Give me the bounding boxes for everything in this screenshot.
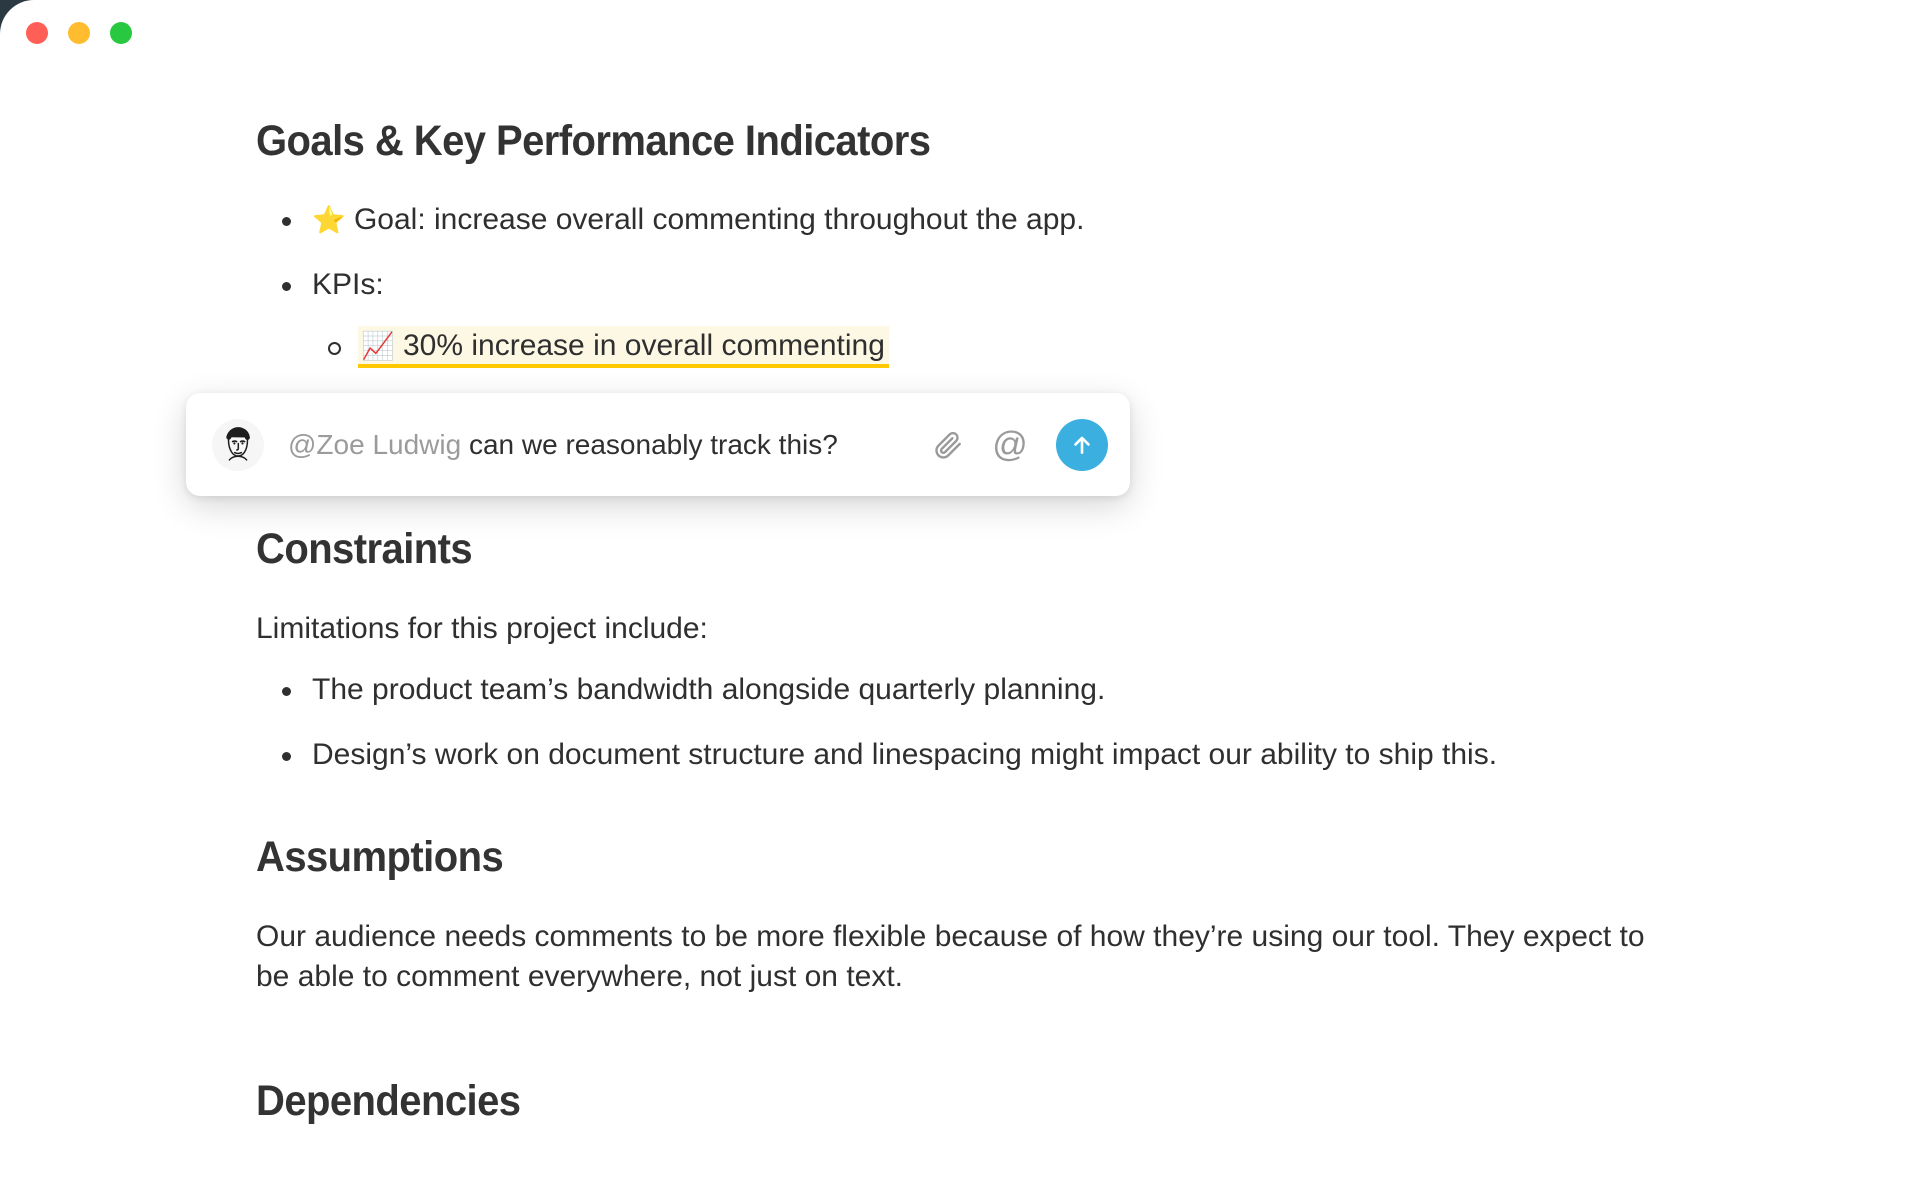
app-window: Goals & Key Performance Indicators ⭐ Goa… <box>0 0 1920 1200</box>
list-item-label: Design’s work on document structure and … <box>312 738 1497 771</box>
send-button[interactable] <box>1056 419 1108 471</box>
mention-icon-glyph: @ <box>992 427 1028 462</box>
list-item-label: The product team’s bandwidth alongside q… <box>312 673 1105 706</box>
list-item-label: Goal: increase overall commenting throug… <box>354 203 1084 236</box>
mention-token: @Zoe Ludwig <box>288 429 461 460</box>
avatar <box>212 419 264 471</box>
mention-icon[interactable]: @ <box>988 423 1032 467</box>
attach-icon[interactable] <box>926 423 970 467</box>
chart-increasing-icon: 📈 <box>361 331 395 362</box>
star-icon: ⭐ <box>312 205 346 236</box>
section-heading-constraints: Constraints <box>256 526 1558 572</box>
arrow-up-icon <box>1069 432 1095 458</box>
list-item[interactable]: Design’s work on document structure and … <box>256 735 1656 774</box>
list-item[interactable]: The product team’s bandwidth alongside q… <box>256 670 1656 709</box>
list-item[interactable]: 📈 30% increase in overall commenting <box>302 326 1656 365</box>
comment-body-text: can we reasonably track this? <box>461 429 838 460</box>
document-content: Goals & Key Performance Indicators ⭐ Goa… <box>256 118 1656 1125</box>
kpi-label: 30% increase in overall commenting <box>403 329 885 362</box>
goals-bullet-list: ⭐ Goal: increase overall commenting thro… <box>256 200 1656 304</box>
constraints-intro: Limitations for this project include: <box>256 609 1656 649</box>
comment-input[interactable]: @Zoe Ludwig can we reasonably track this… <box>288 429 908 461</box>
constraints-bullet-list: The product team’s bandwidth alongside q… <box>256 670 1656 774</box>
assumptions-paragraph: Our audience needs comments to be more f… <box>256 917 1646 996</box>
section-heading-dependencies: Dependencies <box>256 1078 1558 1124</box>
list-item[interactable]: KPIs: <box>256 265 1656 304</box>
commented-text-highlight[interactable]: 📈 30% increase in overall commenting <box>358 326 889 368</box>
document-canvas[interactable]: Goals & Key Performance Indicators ⭐ Goa… <box>0 0 1920 1200</box>
list-item-label: KPIs: <box>312 268 384 301</box>
list-item[interactable]: ⭐ Goal: increase overall commenting thro… <box>256 200 1656 239</box>
page-title: Goals & Key Performance Indicators <box>256 118 1558 164</box>
section-heading-assumptions: Assumptions <box>256 834 1558 880</box>
comment-composer-popup[interactable]: @Zoe Ludwig can we reasonably track this… <box>186 393 1130 496</box>
